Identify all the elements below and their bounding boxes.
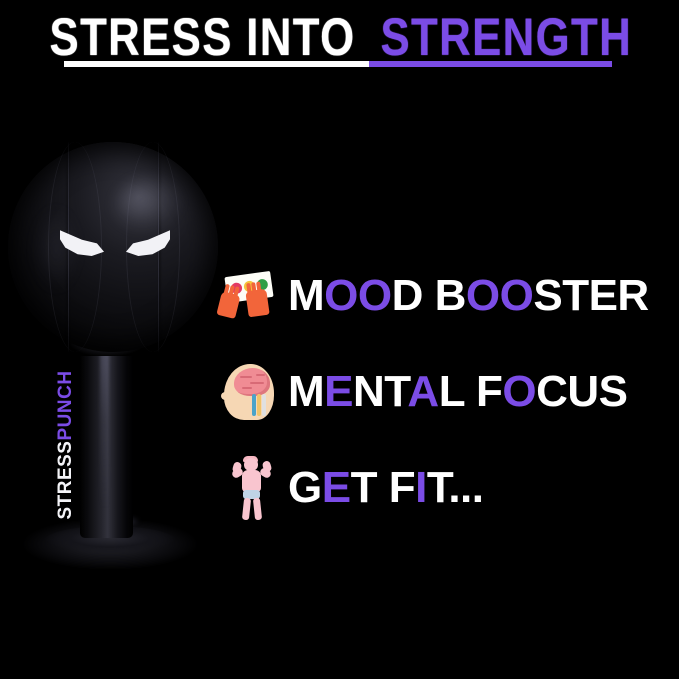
- feature-label-get-fit: GET FIT...: [288, 466, 484, 510]
- seg: OO: [466, 271, 533, 320]
- bodybuilder-figure: [232, 456, 272, 522]
- seg: M: [288, 367, 324, 416]
- brain-fold: [256, 374, 265, 376]
- brain: [234, 368, 270, 396]
- headline-underline-white: [64, 61, 369, 67]
- product-image: STRESSPUNCH: [0, 130, 230, 590]
- seg: T F: [351, 463, 415, 512]
- product-brand-label: STRESSPUNCH: [51, 370, 81, 520]
- headline-underline: [64, 61, 612, 67]
- seg: A: [407, 367, 438, 416]
- flexing-bodybuilder-icon: [214, 452, 288, 524]
- seg: G: [288, 463, 322, 512]
- headline-part-2: STRENGTH: [380, 10, 632, 63]
- seg: I: [415, 463, 427, 512]
- anatomical-brain-head-icon: [214, 356, 288, 428]
- bb-leg-right: [253, 498, 262, 521]
- punching-ball-icon: [8, 142, 218, 352]
- feature-label-mental-focus: MENTAL FOCUS: [288, 370, 628, 414]
- spine-yellow: [257, 394, 261, 416]
- spine-white: [262, 394, 266, 416]
- ball-highlight: [116, 180, 182, 232]
- seg: M: [288, 271, 324, 320]
- seg: E: [322, 463, 351, 512]
- list-item: MOOD BOOSTER: [214, 248, 679, 344]
- feedback-survey-hands-icon: [214, 260, 288, 332]
- seg: O: [502, 367, 536, 416]
- seg: NT: [353, 367, 407, 416]
- brand-name-part-2: PUNCH: [55, 370, 76, 440]
- hand-left: [216, 291, 240, 319]
- headline-underline-purple: [369, 61, 612, 67]
- list-item: MENTAL FOCUS: [214, 344, 679, 440]
- bb-leg-left: [242, 498, 251, 521]
- brain-fold: [250, 382, 264, 384]
- bb-torso: [242, 470, 261, 492]
- stem-highlight: [100, 346, 109, 532]
- brain-fold: [240, 376, 252, 378]
- feature-label-mood-booster: MOOD BOOSTER: [288, 274, 649, 318]
- promo-poster: STRESS INTO STRENGTH STRESSPUNCH: [0, 0, 679, 679]
- hand-right: [245, 289, 269, 318]
- feature-list: MOOD BOOSTER MENTAL FOCUS: [214, 248, 679, 536]
- headline-part-1: STRESS INTO: [49, 10, 355, 63]
- seg: STER: [533, 271, 648, 320]
- seg: T...: [427, 463, 484, 512]
- spine-blue: [252, 394, 256, 416]
- seg: L F: [439, 367, 503, 416]
- seg: E: [324, 367, 353, 416]
- seg: CUS: [536, 367, 627, 416]
- brain-fold: [242, 387, 252, 389]
- seg: OO: [324, 271, 391, 320]
- nose: [221, 392, 230, 400]
- brand-name-part-1: STRESS: [55, 441, 76, 520]
- page-title: STRESS INTO STRENGTH: [0, 16, 679, 63]
- seg: D B: [392, 271, 466, 320]
- list-item: GET FIT...: [214, 440, 679, 536]
